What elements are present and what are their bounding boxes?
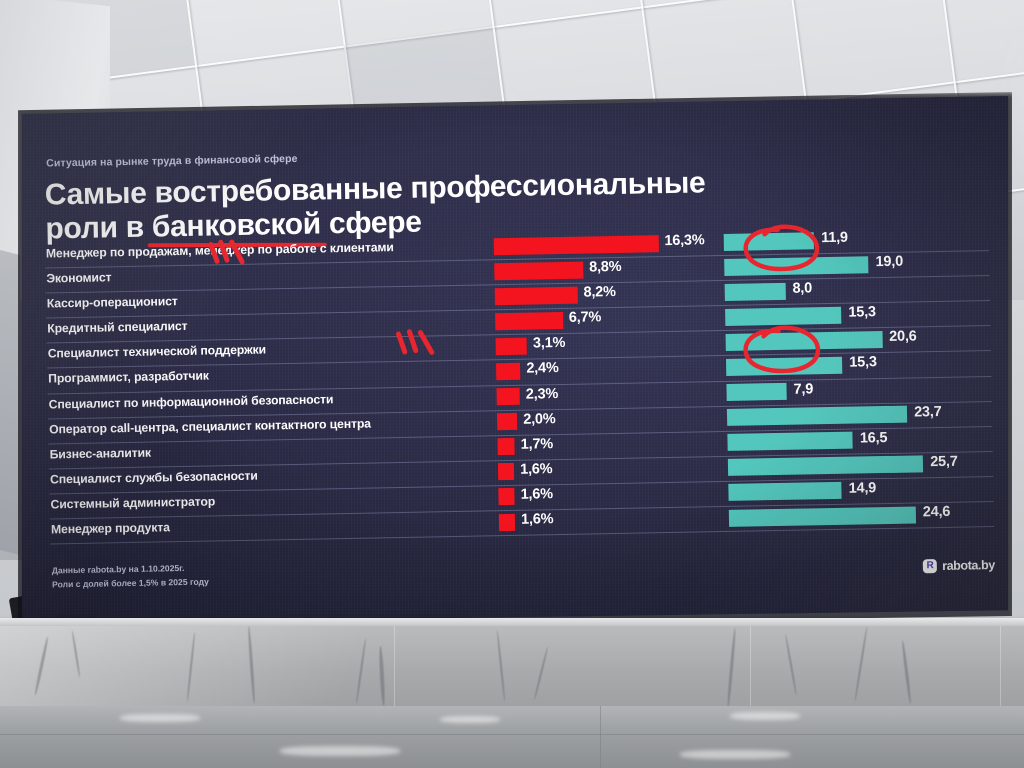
bar-red bbox=[496, 388, 520, 405]
led-video-wall: Ситуация на рынке труда в финансовой сфе… bbox=[18, 96, 1012, 624]
bar-value-red: 8,8% bbox=[589, 259, 622, 276]
left-wall-shadow bbox=[0, 245, 20, 555]
bar-value-teal: 16,5 bbox=[860, 430, 888, 447]
bar-teal bbox=[728, 456, 924, 477]
bar-red bbox=[495, 286, 578, 305]
title-line-2-pre: роли в bbox=[45, 211, 152, 246]
bar-chart: Менеджер по продажам, менеджер по работе… bbox=[45, 226, 994, 545]
bar-red bbox=[494, 261, 583, 280]
bar-teal bbox=[726, 383, 786, 401]
bar-teal bbox=[724, 256, 869, 276]
row-label: Менеджер продукта bbox=[51, 520, 170, 536]
bar-value-red: 1,6% bbox=[521, 511, 554, 528]
bar-red bbox=[497, 438, 514, 455]
bar-value-teal: 24,6 bbox=[923, 504, 951, 521]
bar-teal bbox=[725, 283, 786, 301]
bar-value-teal: 19,0 bbox=[875, 254, 903, 271]
bar-value-teal: 14,9 bbox=[848, 480, 876, 497]
bar-value-teal: 8,0 bbox=[792, 281, 812, 297]
bar-teal bbox=[728, 482, 842, 501]
bar-red bbox=[496, 363, 521, 380]
bar-teal bbox=[727, 432, 853, 451]
row-label: Программист, разработчик bbox=[48, 369, 209, 386]
bar-value-red: 2,4% bbox=[526, 361, 559, 378]
title-line-1: Самые востребованные профессиональные bbox=[45, 166, 706, 211]
bar-value-teal: 20,6 bbox=[889, 329, 917, 346]
bar-teal bbox=[726, 331, 883, 351]
row-label: Специалист по информационной безопасност… bbox=[49, 392, 334, 411]
bar-value-red: 3,1% bbox=[533, 335, 566, 352]
row-label: Менеджер по продажам, менеджер по работе… bbox=[46, 240, 394, 260]
screen-surface: Ситуация на рынке труда в финансовой сфе… bbox=[18, 96, 1012, 624]
row-label: Кредитный специалист bbox=[47, 319, 187, 336]
bar-red bbox=[498, 463, 514, 480]
row-label: Экономист bbox=[46, 270, 111, 285]
bar-teal bbox=[726, 357, 843, 376]
bar-red bbox=[496, 338, 528, 356]
bar-value-teal: 25,7 bbox=[930, 454, 958, 471]
bar-teal bbox=[727, 406, 907, 426]
row-label: Кассир-операционист bbox=[47, 294, 178, 310]
bar-value-red: 8,2% bbox=[583, 284, 616, 301]
bar-red bbox=[494, 235, 659, 255]
bar-teal bbox=[724, 232, 815, 251]
bar-value-teal: 23,7 bbox=[914, 404, 942, 421]
rabota-logo-text: rabota.by bbox=[942, 558, 995, 573]
marble-floor bbox=[0, 706, 1024, 768]
row-label: Бизнес-аналитик bbox=[50, 445, 152, 461]
bar-red bbox=[499, 513, 515, 530]
title-line-2-post: сфере bbox=[321, 206, 422, 241]
bar-value-red: 1,7% bbox=[521, 436, 554, 453]
photo-scene: Ситуация на рынке труда в финансовой сфе… bbox=[0, 0, 1024, 768]
bar-value-red: 6,7% bbox=[569, 310, 602, 327]
bar-value-teal: 7,9 bbox=[793, 381, 813, 397]
bar-value-teal: 15,3 bbox=[848, 304, 876, 321]
slide-content: Ситуация на рынке труда в финансовой сфе… bbox=[18, 96, 1012, 624]
bar-value-red: 1,6% bbox=[520, 461, 553, 478]
marble-wall-panel bbox=[0, 626, 1024, 708]
row-label: Оператор call-центра, специалист контакт… bbox=[49, 416, 371, 436]
bar-red bbox=[498, 488, 514, 505]
bar-teal bbox=[729, 506, 916, 526]
slide-eyebrow: Ситуация на рынке труда в финансовой сфе… bbox=[46, 140, 995, 170]
bar-value-teal: 15,3 bbox=[849, 355, 877, 372]
bar-red bbox=[497, 413, 517, 430]
bar-value-red: 1,6% bbox=[520, 486, 553, 503]
row-label: Специалист службы безопасности bbox=[50, 468, 258, 486]
bar-teal bbox=[725, 307, 842, 326]
footnote-line-2: Роли с долей более 1,5% в 2025 году bbox=[52, 575, 209, 591]
bar-value-red: 16,3% bbox=[664, 232, 704, 249]
bar-red bbox=[495, 312, 563, 330]
row-label: Специалист технической поддержки bbox=[48, 343, 266, 361]
bar-value-teal: 11,9 bbox=[821, 230, 848, 246]
rabota-logo-icon: R bbox=[923, 559, 937, 573]
chart-footnote: Данные rabota.by на 1.10.2025г. Роли с д… bbox=[52, 562, 209, 592]
row-label: Системный администратор bbox=[50, 494, 215, 511]
bar-value-red: 2,3% bbox=[526, 386, 559, 403]
rabota-by-logo: R rabota.by bbox=[923, 558, 995, 573]
bar-value-red: 2,0% bbox=[523, 411, 556, 428]
